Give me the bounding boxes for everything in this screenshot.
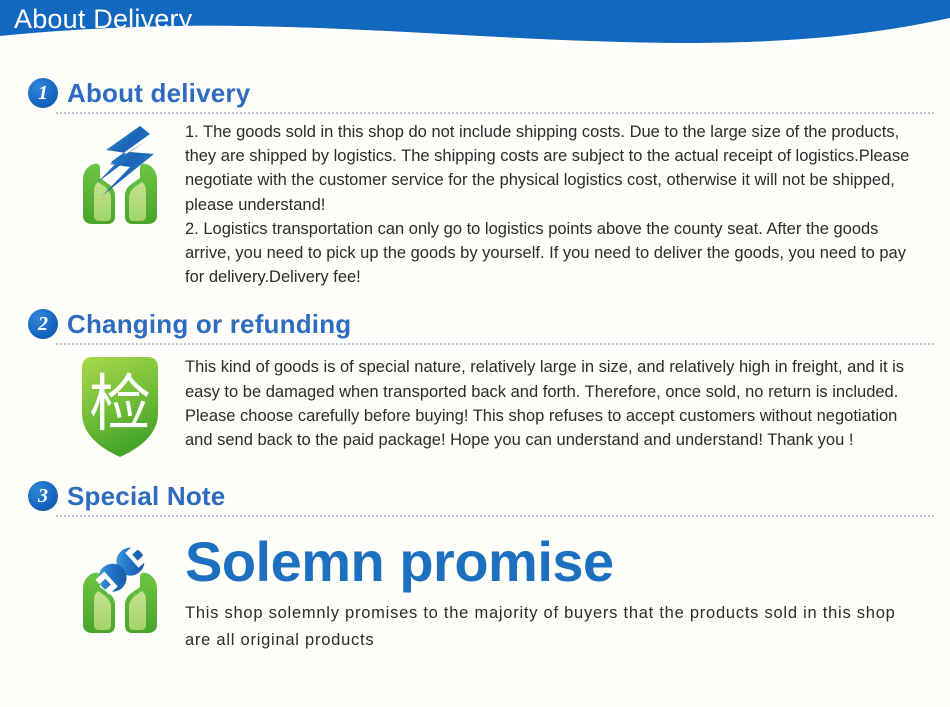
icon-cell-1 (55, 120, 185, 225)
section-number-badge-1: 1 (28, 78, 58, 108)
page-banner: About Delivery (0, 0, 950, 52)
solemn-promise-subtitle: This shop solemnly promises to the major… (185, 600, 926, 654)
section-number-badge-3: 3 (28, 481, 58, 511)
section-header-2: 2 Changing or refunding (28, 307, 934, 341)
hands-holding-wrench-icon (64, 529, 176, 634)
green-shield-inspection-badge-icon: 检 (72, 355, 168, 459)
section-header-3: 3 Special Note (28, 479, 934, 513)
section-title-1: About delivery (67, 78, 250, 109)
icon-cell-3 (55, 529, 185, 634)
shield-character: 检 (89, 367, 151, 440)
section-title-2: Changing or refunding (67, 309, 351, 340)
section-divider-1 (56, 112, 934, 114)
section-title-3: Special Note (67, 481, 225, 512)
section-body-1: 1. The goods sold in this shop do not in… (55, 120, 926, 289)
section-divider-3 (56, 515, 934, 517)
section-body-2: 检 This kind of goods is of special natur… (55, 355, 926, 459)
section-body-3: Solemn promise This shop solemnly promis… (55, 529, 926, 653)
icon-cell-2: 检 (55, 355, 185, 459)
section-divider-2 (56, 343, 934, 345)
solemn-promise-block: Solemn promise This shop solemnly promis… (185, 529, 926, 653)
section-header-1: 1 About delivery (28, 76, 934, 110)
hands-holding-lightning-icon (64, 120, 176, 225)
section-number-badge-2: 2 (28, 309, 58, 339)
section-paragraph-2: This kind of goods is of special nature,… (185, 355, 926, 452)
section-paragraph-1: 1. The goods sold in this shop do not in… (185, 120, 926, 289)
solemn-promise-title: Solemn promise (185, 533, 926, 591)
banner-title: About Delivery (14, 4, 192, 35)
